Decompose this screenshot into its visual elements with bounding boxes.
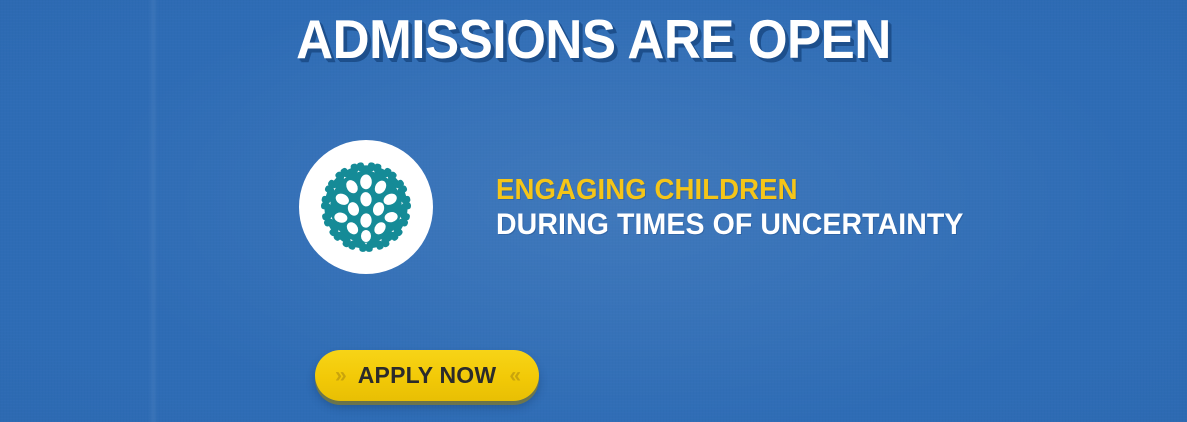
cta-container: » APPLY NOW « [315, 350, 539, 401]
message-text: ENGAGING CHILDREN DURING TIMES OF UNCERT… [496, 172, 988, 242]
chevron-double-left-icon: « [509, 365, 519, 386]
message-headline-primary: ENGAGING CHILDREN [496, 174, 964, 207]
coronavirus-icon [308, 149, 424, 265]
coronavirus-badge [299, 140, 433, 274]
apply-now-button[interactable]: » APPLY NOW « [315, 350, 539, 401]
chevron-double-right-icon: » [335, 365, 345, 386]
admissions-banner: ADMISSIONS ARE OPEN [0, 0, 1187, 422]
message-row: ENGAGING CHILDREN DURING TIMES OF UNCERT… [299, 140, 988, 274]
apply-now-label: APPLY NOW [345, 362, 510, 389]
page-title: ADMISSIONS ARE OPEN [42, 9, 1146, 69]
message-headline-secondary: DURING TIMES OF UNCERTAINTY [496, 207, 964, 242]
